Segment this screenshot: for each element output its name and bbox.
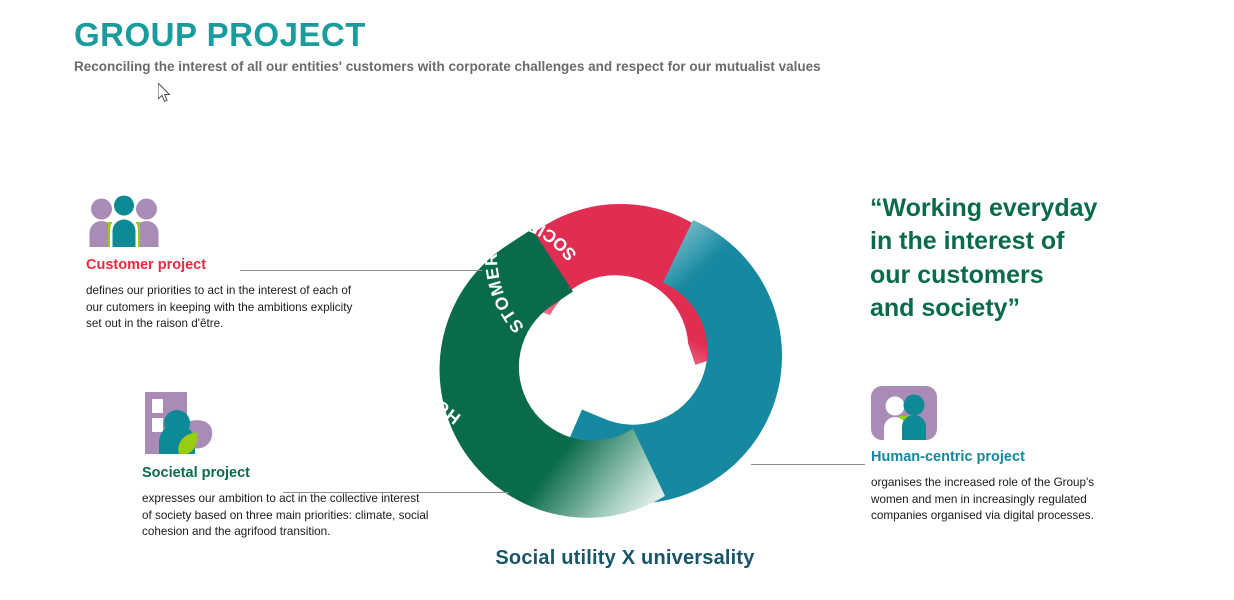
header: GROUP PROJECT Reconciling the interest o… — [74, 18, 1174, 75]
quote-line-2: in the interest of — [870, 225, 1130, 258]
block-customer-project: Customer project defines our priorities … — [86, 192, 356, 333]
building-person-leaf-icon — [142, 388, 222, 456]
block-body-societal: expresses our ambition to act in the col… — [142, 491, 432, 541]
block-title-human-centric: Human-centric project — [871, 450, 1121, 466]
quote-line-1: “Working everyday — [870, 192, 1130, 225]
page-title: GROUP PROJECT — [74, 18, 1174, 53]
quote-line-3: our customers — [870, 259, 1130, 292]
mouse-cursor-icon — [158, 83, 172, 103]
pull-quote: “Working everyday in the interest of our… — [870, 192, 1130, 325]
two-people-badge-icon — [871, 386, 937, 440]
block-title-customer: Customer project — [86, 258, 356, 274]
block-human-centric-project: Human-centric project organises the incr… — [871, 386, 1121, 525]
block-title-societal: Societal project — [142, 466, 432, 482]
block-body-human-centric: organises the increased role of the Grou… — [871, 475, 1121, 525]
three-people-icon — [86, 192, 162, 248]
block-body-customer: defines our priorities to act in the int… — [86, 283, 356, 333]
infographic-page: GROUP PROJECT Reconciling the interest o… — [0, 0, 1234, 600]
page-subtitle: Reconciling the interest of all our enti… — [74, 59, 1174, 75]
cycle-caption: Social utility X universality — [425, 547, 825, 570]
quote-line-4: and society” — [870, 292, 1130, 325]
cycle-svg: CUSTOMER PROJECT HUMAN-CENTRIC PROJECT S… — [425, 155, 825, 555]
cycle-diagram: CUSTOMER PROJECT HUMAN-CENTRIC PROJECT S… — [425, 155, 825, 555]
connector-line-human-centric — [751, 464, 865, 465]
block-societal-project: Societal project expresses our ambition … — [142, 388, 432, 541]
